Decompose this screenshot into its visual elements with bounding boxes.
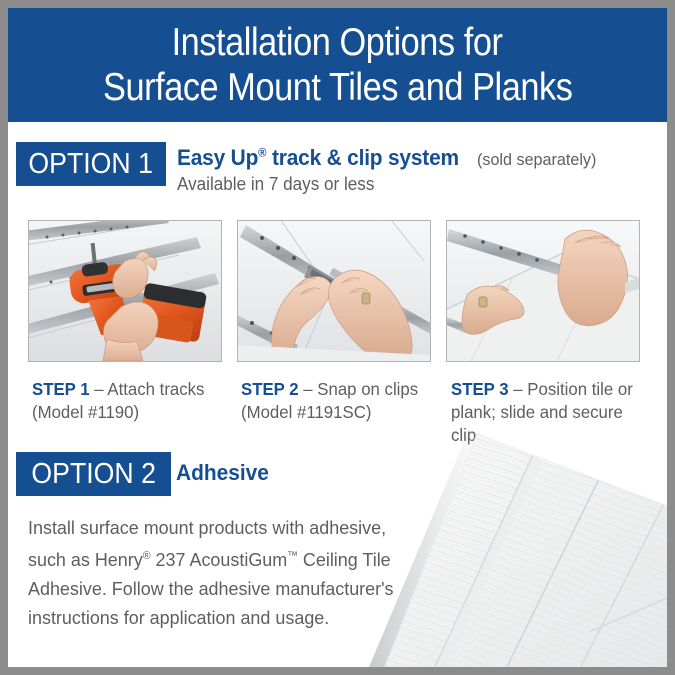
- step-2-caption: STEP 2 – Snap on clips (Model #1191SC): [241, 378, 441, 424]
- option-2-body-text: Install surface mount products with adhe…: [28, 513, 428, 632]
- option-1-badge-label: OPTION 1: [29, 142, 154, 186]
- option-1-heading-rest: track & clip system: [266, 145, 459, 170]
- step-2-model: (Model #1191SC): [241, 402, 371, 422]
- option-1-subtitle: Available in 7 days or less: [177, 174, 374, 195]
- option-1-heading-main: Easy Up: [177, 145, 258, 170]
- option-1-badge: OPTION 1: [16, 142, 166, 186]
- step-1-dash: –: [90, 379, 108, 399]
- option-2-badge-label: OPTION 2: [31, 452, 156, 496]
- step-3-caption: STEP 3 – Position tile or plank; slide a…: [451, 378, 656, 447]
- step-2-text: Snap on clips: [317, 379, 418, 399]
- step-1-photo-art: [29, 221, 221, 361]
- step-2-photo: [237, 220, 431, 362]
- page-title-line-1: Installation Options for: [172, 20, 503, 65]
- step-1-text: Attach tracks: [107, 379, 204, 399]
- header-banner: Installation Options for Surface Mount T…: [8, 8, 667, 122]
- infographic-card: Installation Options for Surface Mount T…: [8, 8, 667, 667]
- step-3-photo: [446, 220, 640, 362]
- step-1-label: STEP 1: [32, 379, 90, 399]
- page-title-line-2: Surface Mount Tiles and Planks: [103, 65, 572, 110]
- step-3-label: STEP 3: [451, 379, 509, 399]
- step-1-model: (Model #1190): [32, 402, 139, 422]
- option-1-heading-text: Easy Up® track & clip system: [177, 145, 459, 171]
- step-2-photo-art: [238, 221, 430, 361]
- step-3-dash: –: [509, 379, 528, 399]
- option-1-heading: Easy Up® track & clip system(sold separa…: [177, 145, 657, 171]
- option-1-heading-note: (sold separately): [477, 150, 596, 170]
- registered-mark-icon: ®: [258, 146, 266, 160]
- step-2-dash: –: [299, 379, 318, 399]
- option-2-heading: Adhesive: [176, 460, 269, 486]
- step-3-photo-art: [447, 221, 639, 361]
- step-1-caption: STEP 1 – Attach tracks (Model #1190): [32, 378, 232, 424]
- option-2-body-part-2: 237 AcoustiGum: [151, 549, 288, 570]
- step-1-photo: [28, 220, 222, 362]
- option-2-badge: OPTION 2: [16, 452, 171, 496]
- step-2-label: STEP 2: [241, 379, 299, 399]
- trademark-mark-icon: ™: [287, 550, 298, 562]
